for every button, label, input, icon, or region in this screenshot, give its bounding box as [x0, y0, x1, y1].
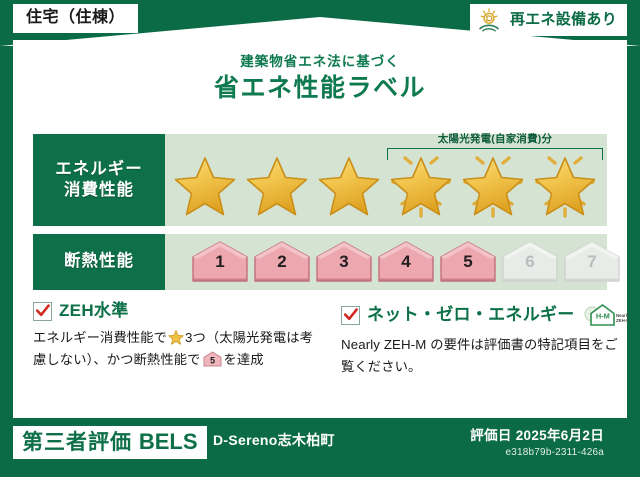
zeh-body-part3: を達成	[224, 352, 264, 367]
insulation-level-7: 7	[563, 240, 621, 284]
evaluation-date: 評価日 2025年6月2日	[470, 428, 604, 444]
insulation-level-1: 1	[191, 240, 249, 284]
label-title-block: 建築物省エネ法に基づく 省エネ性能ラベル	[13, 54, 627, 103]
insulation-performance-row: 断熱性能 1234567	[33, 234, 607, 290]
star-icon	[318, 156, 380, 216]
insulation-level-scale: 1234567	[165, 234, 607, 290]
star-icon	[534, 156, 596, 216]
insulation-performance-row-label: 断熱性能	[33, 234, 165, 290]
bels-certification-plate: 第三者評価 BELS	[13, 426, 207, 459]
insulation-level-value: 2	[253, 253, 311, 270]
house-type-tag-label: 住宅（住棟）	[26, 9, 125, 26]
label-title: 省エネ性能ラベル	[13, 73, 627, 103]
insulation-level-3: 3	[315, 240, 373, 284]
net-zero-energy-heading: ネット・ゼロ・エネルギー H-M Nearly ZEH-M	[341, 302, 629, 328]
insulation-level-value: 3	[315, 253, 373, 270]
zeh-standard-title: ZEH水準	[59, 302, 129, 321]
label-footer: 第三者評価 BELS D-Sereno志木柏町 評価日 2025年6月2日 e3…	[0, 424, 640, 477]
insulation-performance-row-body: 1234567	[165, 234, 607, 290]
star-icon	[174, 156, 236, 216]
zeh-standard-checkbox	[33, 302, 52, 321]
renewable-energy-tag-label: 再エネ設備あり	[510, 12, 617, 29]
energy-label-line1: エネルギー	[55, 159, 143, 180]
nearly-zeh-m-logo-icon: H-M Nearly ZEH-M	[582, 302, 628, 328]
building-name: D-Sereno志木柏町	[213, 432, 335, 449]
energy-star-4	[385, 134, 457, 226]
zeh-standard-body: エネルギー消費性能で3つ（太陽光発電は考慮しない）、かつ断熱性能で5を達成	[33, 327, 317, 370]
sun-solar-icon	[478, 8, 504, 32]
zeh-standard-note: ZEH水準 エネルギー消費性能で3つ（太陽光発電は考慮しない）、かつ断熱性能で5…	[33, 302, 331, 377]
notes-section: ZEH水準 エネルギー消費性能で3つ（太陽光発電は考慮しない）、かつ断熱性能で5…	[33, 302, 629, 377]
insulation-level-value: 7	[563, 253, 621, 270]
insulation-level-6: 6	[501, 240, 559, 284]
energy-star-3	[313, 134, 385, 226]
net-zero-energy-title: ネット・ゼロ・エネルギー	[367, 306, 575, 325]
energy-star-1	[169, 134, 241, 226]
energy-performance-row-label: エネルギー 消費性能	[33, 134, 165, 226]
insulation-level-value: 4	[377, 253, 435, 270]
third-party-label: 第三者評価	[22, 431, 132, 454]
house-type-tag: 住宅（住棟）	[13, 4, 138, 33]
energy-star-5	[457, 134, 529, 226]
energy-performance-row: エネルギー 消費性能 太陽光発電(自家消費)分	[33, 134, 607, 226]
energy-performance-label: 住宅（住棟） 再エネ設備あり 建築物省エネ法に基づく	[0, 0, 640, 477]
svg-text:ZEH-M: ZEH-M	[616, 318, 628, 323]
insulation-level-value: 1	[191, 253, 249, 270]
inline-insulation-level-icon: 5	[203, 351, 222, 367]
label-subtitle: 建築物省エネ法に基づく	[13, 54, 627, 70]
insulation-level-5: 5	[439, 240, 497, 284]
label-card: 建築物省エネ法に基づく 省エネ性能ラベル エネルギー 消費性能 太陽光発電(自家…	[13, 40, 627, 418]
star-icon	[462, 156, 524, 216]
zeh-body-part1: エネルギー消費性能で	[33, 330, 167, 345]
zeh-standard-heading: ZEH水準	[33, 302, 317, 321]
renewable-energy-tag: 再エネ設備あり	[470, 4, 627, 36]
insulation-level-4: 4	[377, 240, 435, 284]
net-zero-energy-note: ネット・ゼロ・エネルギー H-M Nearly ZEH-M Nearly ZEH…	[331, 302, 629, 377]
energy-performance-row-body: 太陽光発電(自家消費)分	[165, 134, 607, 226]
energy-label-line2: 消費性能	[64, 180, 134, 201]
net-zero-energy-body: Nearly ZEH-M の要件は評価書の特記項目をご覧ください。	[341, 334, 629, 377]
bels-label: BELS	[139, 429, 198, 454]
svg-text:H-M: H-M	[595, 311, 609, 320]
inline-star-icon	[168, 330, 184, 345]
insulation-level-value: 6	[501, 253, 559, 270]
star-icon	[246, 156, 308, 216]
svg-text:5: 5	[209, 355, 214, 365]
star-icon	[390, 156, 452, 216]
evaluation-id: e318b79b-2311-426a	[505, 447, 604, 459]
energy-star-2	[241, 134, 313, 226]
energy-star-rating	[165, 134, 607, 226]
net-zero-energy-checkbox	[341, 306, 360, 325]
insulation-level-2: 2	[253, 240, 311, 284]
energy-star-6	[529, 134, 601, 226]
insulation-level-value: 5	[439, 253, 497, 270]
insulation-label: 断熱性能	[64, 251, 134, 272]
